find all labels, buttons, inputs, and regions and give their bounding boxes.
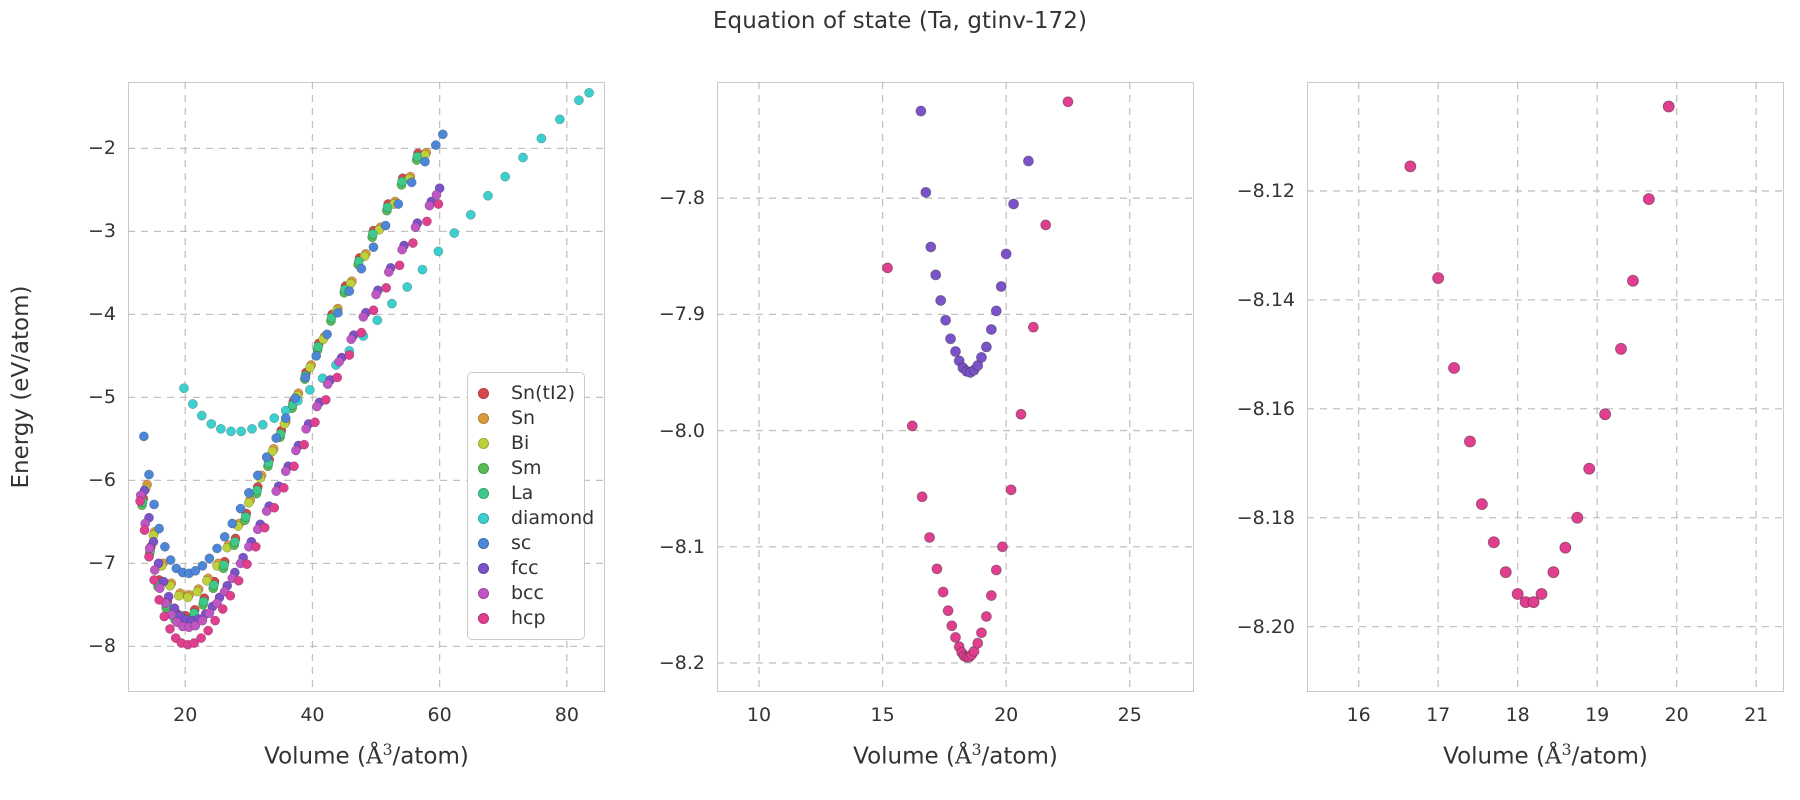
legend-item-sn[interactable]: Sn [478,406,572,431]
legend-label: Sn [511,409,535,428]
y-tick-label: −8.20 [1237,616,1295,638]
x-tick-label: 18 [1506,704,1530,726]
panel-zoom-fine [1307,82,1784,692]
y-tick-label: −8.18 [1237,507,1295,529]
y-tick-label: −3 [88,220,116,242]
x-axis-label: Volume (Å3/atom) [264,740,469,770]
legend-marker-icon [478,563,489,574]
legend-label: Bi [511,434,529,453]
legend-label: diamond [511,509,594,528]
legend-label: Sm [511,459,542,478]
legend-marker-icon [478,538,489,549]
grid-lines [1307,82,1784,692]
x-tick-label: 15 [870,704,894,726]
y-tick-label: −7.8 [659,187,705,209]
x-tick-label: 25 [1118,704,1142,726]
y-axis-label: Energy (eV/atom) [8,285,34,488]
scatter-plot-zoom-medium [717,82,1194,692]
x-tick-label: 10 [747,704,771,726]
x-tick-label: 19 [1585,704,1609,726]
x-tick-label: 16 [1347,704,1371,726]
equation-of-state-figure: Equation of state (Ta, gtinv-172) −2−3−4… [0,0,1800,800]
legend-item-diamond[interactable]: diamond [478,506,572,531]
y-tick-label: −8.2 [659,652,705,674]
legend-item-sm[interactable]: Sm [478,456,572,481]
grid-lines [717,82,1194,692]
legend-item-fcc[interactable]: fcc [478,556,572,581]
y-tick-label: −8 [88,635,116,657]
x-tick-label: 20 [1665,704,1689,726]
legend-marker-icon [478,463,489,474]
x-tick-label: 20 [173,704,197,726]
x-tick-label: 20 [994,704,1018,726]
x-tick-label: 60 [428,704,452,726]
x-axis-label: Volume (Å3/atom) [1443,740,1648,770]
series-legend[interactable]: Sn(tI2)SnBiSmLadiamondscfccbcchcp [467,372,585,640]
x-tick-label: 21 [1744,704,1768,726]
legend-marker-icon [478,613,489,624]
legend-marker-icon [478,588,489,599]
legend-marker-icon [478,438,489,449]
series-sc [139,130,447,578]
y-tick-label: −8.12 [1237,180,1295,202]
series-hcp [883,97,1073,662]
legend-item-snti2[interactable]: Sn(tI2) [478,381,572,406]
scatter-plot-zoom-fine [1307,82,1784,692]
legend-item-hcp[interactable]: hcp [478,606,572,631]
legend-label: La [511,484,533,503]
y-tick-label: −8.16 [1237,398,1295,420]
legend-item-sc[interactable]: sc [478,531,572,556]
legend-label: Sn(tI2) [511,384,575,403]
series-hcp [1405,101,1675,608]
y-tick-label: −2 [88,137,116,159]
y-tick-label: −8.0 [659,420,705,442]
legend-item-bcc[interactable]: bcc [478,581,572,606]
x-tick-label: 80 [555,704,579,726]
legend-marker-icon [478,388,489,399]
x-tick-label: 17 [1426,704,1450,726]
legend-marker-icon [478,413,489,424]
legend-item-bi[interactable]: Bi [478,431,572,456]
y-tick-label: −5 [88,386,116,408]
y-tick-label: −8.1 [659,536,705,558]
legend-item-la[interactable]: La [478,481,572,506]
x-axis-label: Volume (Å3/atom) [853,740,1058,770]
y-tick-label: −8.14 [1237,289,1295,311]
y-tick-label: −7 [88,552,116,574]
legend-marker-icon [478,513,489,524]
panel-zoom-medium [717,82,1194,692]
legend-label: hcp [511,609,546,628]
legend-marker-icon [478,488,489,499]
x-tick-label: 40 [300,704,324,726]
legend-label: bcc [511,584,544,603]
y-tick-label: −7.9 [659,303,705,325]
series-fcc [916,106,1034,377]
y-tick-label: −4 [88,303,116,325]
legend-label: fcc [511,559,539,578]
series-Bi [141,150,429,602]
y-tick-label: −6 [88,469,116,491]
legend-label: sc [511,534,531,553]
figure-title: Equation of state (Ta, gtinv-172) [0,8,1800,34]
